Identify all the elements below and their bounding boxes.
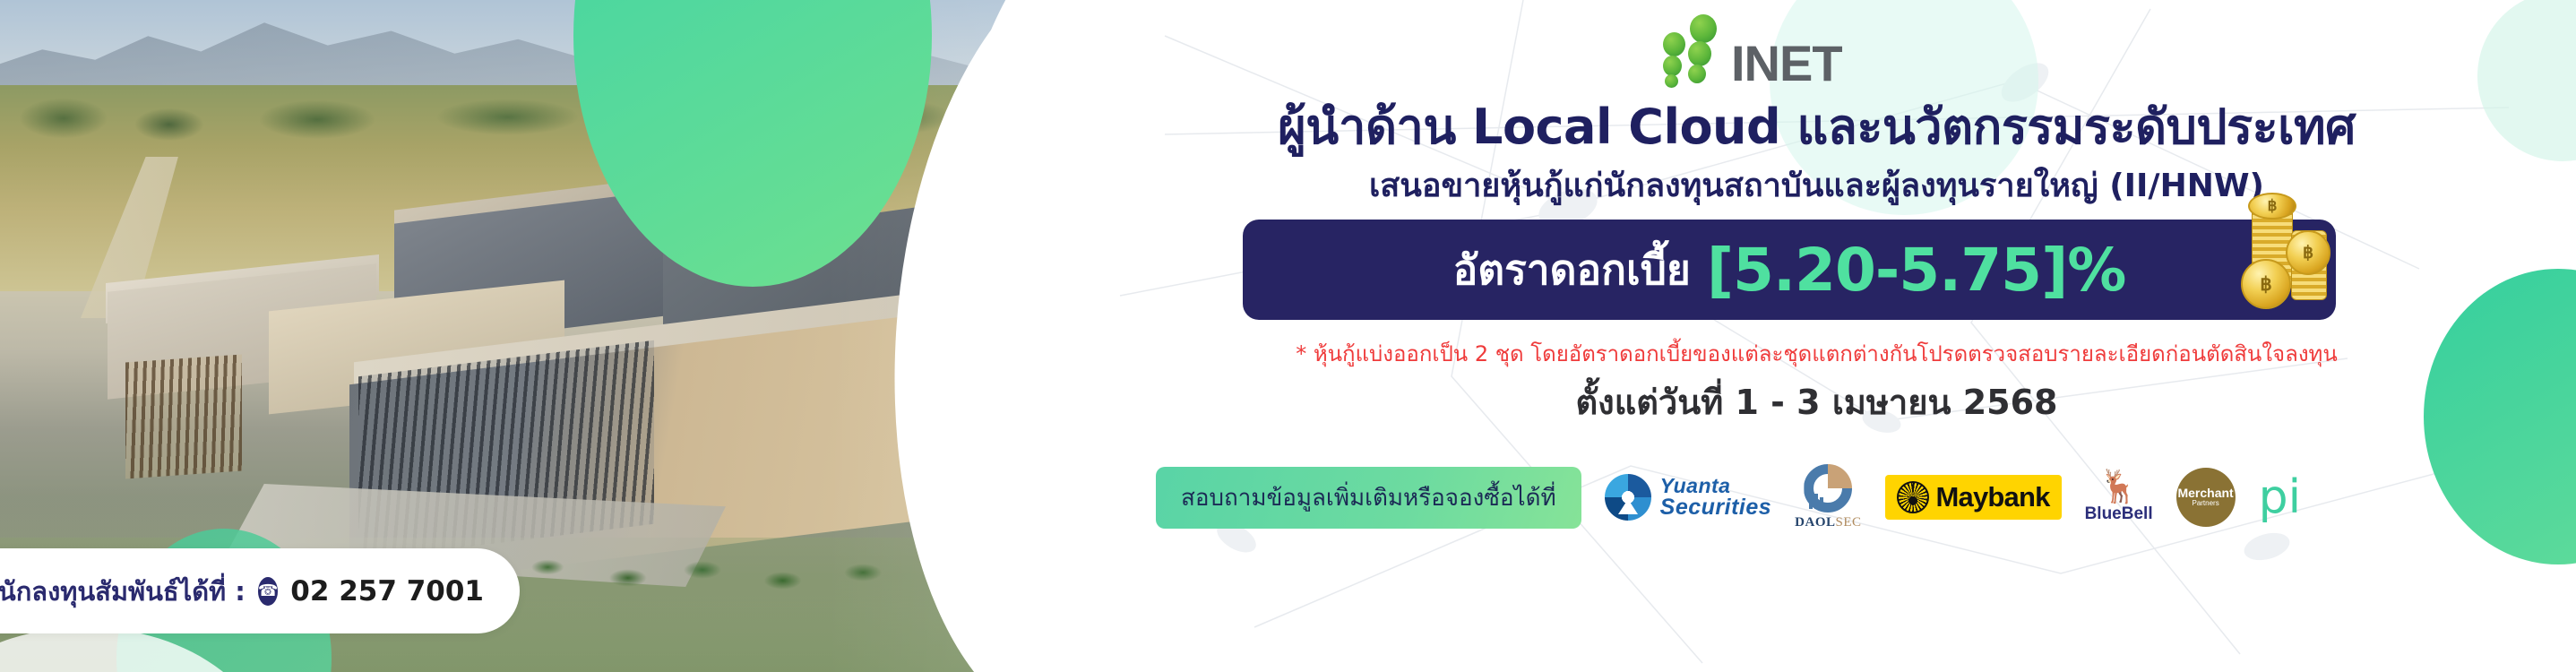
maybank-name: Maybank [1936,481,2050,513]
yuanta-star-icon [1605,474,1651,521]
cta-and-partners-row: สอบถามข้อมูลเพิ่มเติมหรือจองซื้อได้ที่ Y… [1057,448,2576,547]
merchant-name-light: Partners [2192,500,2218,507]
partner-logo-bluebell[interactable]: 🦌 BlueBell [2085,470,2153,524]
content-area: INET ผู้นำด้าน Local Cloud และนวัตกรรมระ… [1057,0,2576,672]
gold-coins-icon: ฿ ฿ ฿ [2221,191,2347,325]
promo-banner: INET ผู้นำด้าน Local Cloud และนวัตกรรมระ… [0,0,2576,672]
headline: ผู้นำด้าน Local Cloud และนวัตกรรมระดับปร… [1057,88,2576,165]
pi-wordmark-icon: pi [2259,477,2301,519]
partner-logo-daol[interactable]: DAOLSEC [1795,464,1861,530]
interest-rate-label: อัตราดอกเบี้ย [1453,237,1691,303]
partner-logos: Yuanta Securities [1605,464,2301,530]
inquire-button[interactable]: สอบถามข้อมูลเพิ่มเติมหรือจองซื้อได้ที่ [1156,467,1581,529]
subheadline: เสนอขายหุ้นกู้แก่นักลงทุนสถาบันและผู้ลงท… [1057,159,2576,211]
interest-rate-box: อัตราดอกเบี้ย [5.20-5.75]% ฿ ฿ ฿ [1243,220,2336,320]
yuanta-name-line2: Securities [1660,496,1772,520]
yuanta-name-line1: Yuanta [1660,476,1772,496]
disclaimer-text: * หุ้นกู้แบ่งออกเป็น 2 ชุด โดยอัตราดอกเบ… [1057,336,2576,371]
offer-period: ตั้งแต่วันที่ 1 - 3 เมษายน 2568 [1057,375,2576,429]
inet-dots-logo-icon [1649,13,1734,82]
bluebell-name: BlueBell [2085,504,2153,524]
merchant-name-bold: Merchant [2177,487,2233,500]
bluebell-deer-icon: 🦌 [2098,470,2139,503]
inet-logo-wordmark: INET [1731,34,1842,92]
interest-rate-value: [5.20-5.75]% [1707,236,2126,305]
maybank-tiger-icon [1897,481,1929,513]
daol-name-bold: DAOL [1795,515,1835,530]
contact-label: ติดต่อฝ่ายนักลงทุนสัมพันธ์ได้ที่ : [0,571,246,612]
partner-logo-pi[interactable]: pi [2259,477,2301,519]
partner-logo-maybank[interactable]: Maybank [1885,475,2062,520]
partner-logo-yuanta[interactable]: Yuanta Securities [1605,474,1772,521]
phone-icon: ☎ [258,577,278,606]
daol-circle-chart-icon [1804,464,1852,513]
partner-logo-merchant[interactable]: Merchant Partners [2176,468,2236,527]
photo-facade-louvers-2 [125,354,242,478]
inet-logo: INET [1649,13,1917,84]
investor-relations-contact: ติดต่อฝ่ายนักลงทุนสัมพันธ์ได้ที่ : ☎ 02 … [0,548,520,633]
merchant-circle-icon: Merchant Partners [2176,468,2236,527]
contact-phone-number[interactable]: 02 257 7001 [290,575,484,607]
daol-name-light: SEC [1836,515,1862,530]
